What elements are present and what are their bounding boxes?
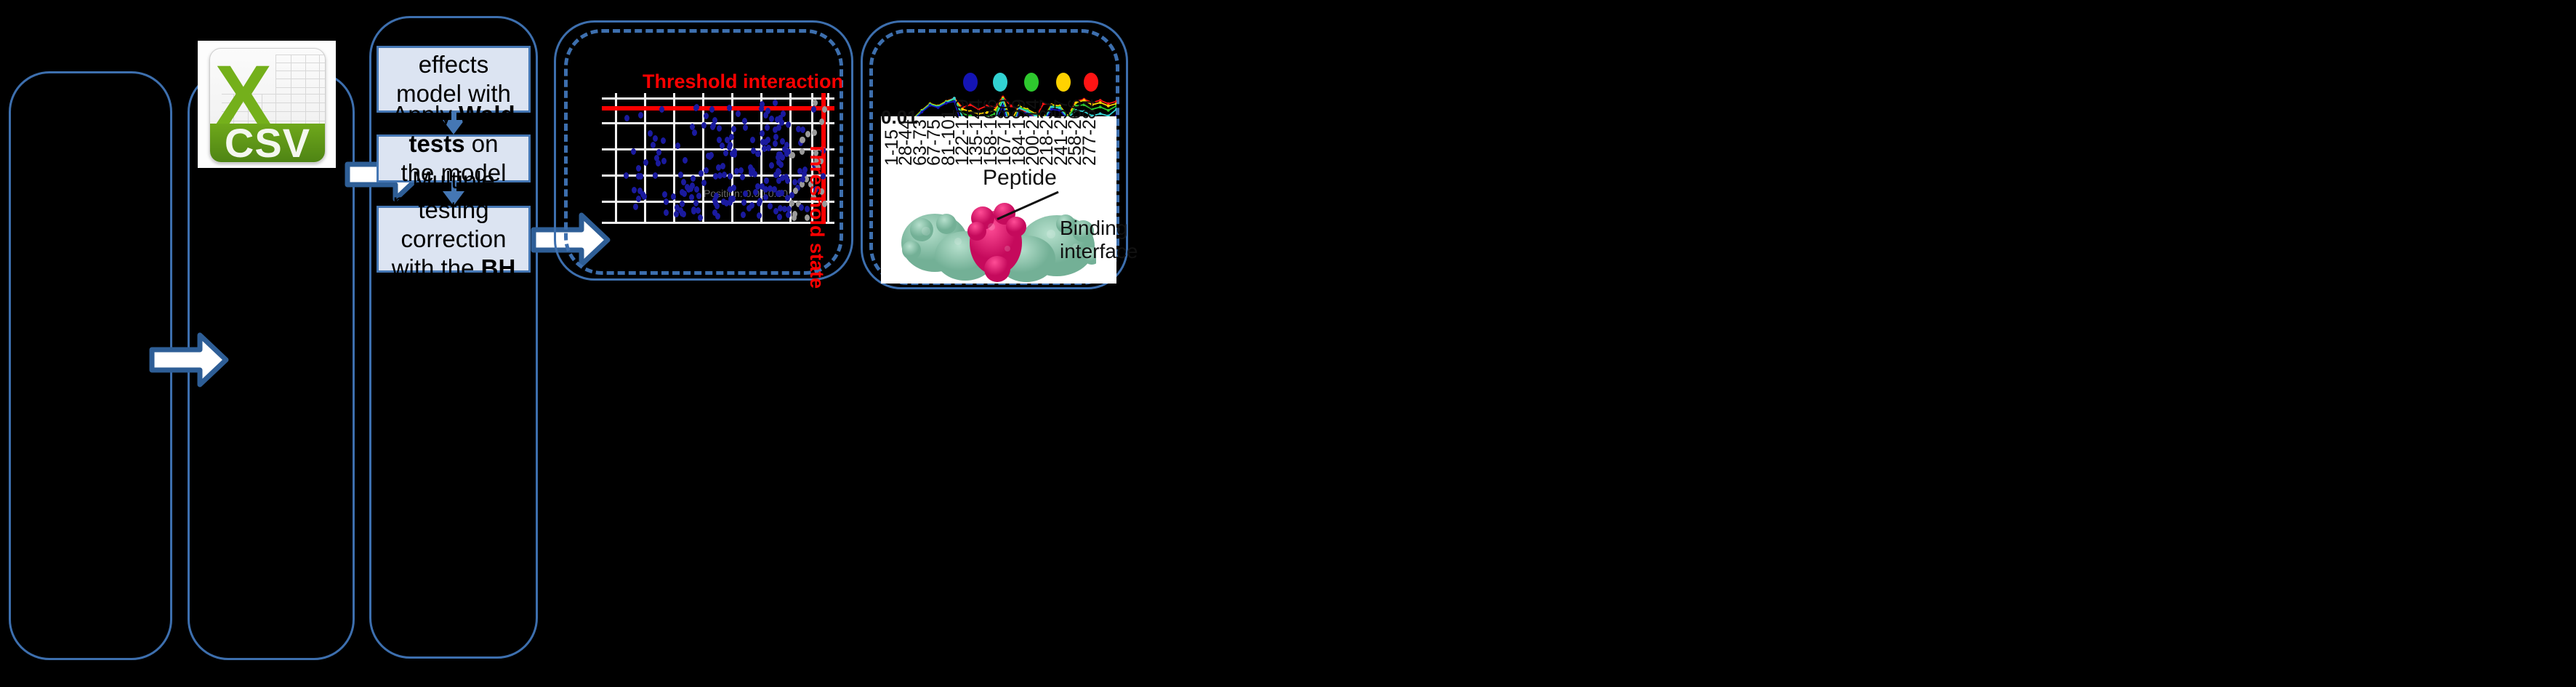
scatter-point [654, 155, 659, 161]
scatter-point [749, 170, 754, 177]
scatter-point [701, 122, 707, 129]
scatter-point [800, 176, 805, 182]
step-bh-line3-pre: with the [392, 254, 481, 281]
scatter-point [813, 100, 818, 106]
scatter-point [678, 172, 683, 178]
scatter-point [631, 148, 636, 155]
scatter-point [717, 125, 722, 132]
scatter-point [692, 129, 697, 136]
scatter-point [696, 193, 701, 199]
scatter-point [805, 131, 810, 137]
scatter-point [723, 150, 728, 156]
scatter-point [709, 152, 714, 158]
scatter-point [799, 204, 804, 211]
scatter-point [759, 105, 764, 112]
scatter-point [691, 175, 696, 182]
scatter-point [778, 205, 783, 212]
scatter-point [698, 214, 703, 221]
scatter-point [721, 198, 726, 205]
scatter-point [636, 196, 641, 202]
csv-format-band: CSV [210, 124, 325, 162]
label-threshold-interaction: Threshold interaction [643, 71, 843, 93]
scatter-point [786, 148, 791, 155]
structure-figure: 0.01 1-1528-4463-7367-7581-101122-129135… [877, 38, 1116, 284]
scatter-point [633, 204, 638, 210]
scatter-point [736, 111, 741, 117]
scatter-point [776, 159, 781, 166]
scatter-point [741, 199, 746, 206]
scatter-point [812, 129, 817, 136]
scatter-point [704, 167, 709, 174]
scatter-point [773, 134, 778, 140]
scatter-point [772, 186, 777, 193]
scatter-point [763, 194, 768, 201]
scatter-point [636, 165, 641, 172]
scatter-point [688, 185, 693, 192]
scatter-point [704, 113, 709, 119]
scatter-point [800, 148, 805, 155]
binding-interface-label: Binding interface [1060, 217, 1138, 263]
scatter-point [712, 117, 717, 124]
scatter-point [793, 188, 798, 194]
scatter-point [789, 200, 794, 206]
step-wald-line1-pre: Apply [392, 101, 459, 128]
scatter-point [727, 105, 732, 111]
scatter-point [624, 172, 629, 179]
scatter-point [717, 172, 723, 179]
scatter-point [730, 150, 735, 157]
chart-point [929, 104, 932, 107]
scatter-point [661, 137, 666, 144]
scatter-point [782, 206, 787, 212]
scatter-point [734, 168, 739, 174]
scatter-point [680, 189, 685, 196]
scatter-point [731, 126, 736, 132]
scatter-point [715, 203, 720, 209]
chart-point [1107, 109, 1110, 112]
binding-label-line1: Binding [1060, 217, 1127, 239]
scatter-point [653, 135, 658, 142]
step-bh-bold: BH [481, 254, 516, 281]
scatter-point [632, 187, 637, 193]
structure-white-card: 0.01 1-1528-4463-7367-7581-101122-129135… [881, 116, 1116, 284]
scatter-plot: Position: 0.00 0.00 [602, 93, 834, 224]
scatter-point [769, 162, 774, 169]
scatter-point [680, 201, 685, 207]
scatter-point [765, 108, 770, 114]
chart-point [1107, 105, 1110, 108]
scatter-point [780, 174, 785, 181]
threshold-line-horizontal [602, 106, 834, 111]
scatter-point [769, 116, 774, 122]
scatter-point [777, 214, 782, 220]
scatter-point [755, 183, 760, 190]
x-axis-title: Peptide [983, 166, 1057, 190]
scatter-point [701, 180, 707, 186]
scatter-point [743, 124, 748, 131]
scatter-point [800, 126, 805, 133]
scatter-point [694, 104, 699, 111]
step-box-bh[interactable]: Multiple testing correction with the BH … [377, 206, 531, 273]
scatter-point [651, 142, 656, 148]
scatter-point [659, 106, 664, 113]
scatter-point [749, 202, 754, 209]
scatter-point [691, 208, 696, 214]
flow-diagram-stage: X CSV Fit a linear mixed- effects model … [0, 0, 2576, 687]
scatter-point [786, 212, 791, 218]
arrow-input-to-csv [149, 331, 229, 389]
label-threshold-state: Threshold state [805, 142, 828, 289]
scatter-point [727, 144, 732, 150]
scatter-point [792, 179, 797, 185]
scatter-point [768, 203, 773, 209]
step-reml-line1: Fit a linear mixed- [398, 0, 510, 49]
scatter-point [694, 186, 699, 193]
step-reml-line2: effects model with [396, 51, 511, 107]
step-bh-line3-post: procedure [400, 284, 508, 310]
csv-x-letter: X [214, 53, 260, 103]
scatter-point [728, 186, 733, 193]
scatter-point [638, 112, 643, 118]
step-wald-line1-post: on [465, 130, 499, 157]
scatter-point [636, 173, 641, 180]
scatter-point [773, 100, 778, 106]
scatter-point [671, 193, 676, 200]
scatter-point [800, 137, 805, 143]
scatter-point [720, 142, 725, 149]
scatter-point [743, 190, 748, 197]
scatter-point [661, 158, 667, 164]
scatter-point [811, 106, 816, 113]
scatter-point [785, 177, 790, 184]
peptide-axis-labels: 1-1528-4463-7367-7581-101122-129135-1441… [898, 121, 1114, 166]
scatter-point [696, 207, 701, 214]
csv-format-label: CSV [225, 119, 310, 163]
scatter-point [664, 198, 669, 205]
step-bh-line2: correction [401, 225, 507, 252]
scatter-point [624, 115, 629, 121]
scatter-point [710, 124, 715, 130]
scatter-point [709, 106, 715, 113]
scatter-point [740, 174, 745, 180]
scatter-point [742, 118, 747, 124]
scatter-point [675, 142, 680, 149]
scatter-point [689, 194, 694, 201]
scatter-point [741, 212, 746, 218]
scatter-point [779, 119, 784, 126]
panel-input [9, 71, 172, 660]
csv-file-icon: X CSV [209, 48, 326, 163]
scatter-point [715, 213, 720, 220]
scatter-point [755, 150, 760, 157]
scatter-point [796, 126, 801, 132]
scatter-point [662, 191, 667, 198]
chart-point [945, 102, 948, 105]
scatter-point [643, 159, 648, 166]
scatter-point [648, 130, 653, 137]
chart-point [920, 111, 923, 113]
scatter-point [784, 142, 789, 148]
scatter-point [675, 204, 680, 211]
scatter-point [674, 211, 679, 217]
scatter-point [764, 177, 769, 184]
binding-label-line2: interface [1060, 240, 1138, 262]
scatter-point [664, 209, 669, 216]
scatter-point [773, 172, 778, 178]
scatter-point [750, 137, 755, 143]
scatter-point [762, 145, 767, 152]
scatter-point [773, 140, 778, 147]
peptide-tick-label: 277-284 [1079, 99, 1100, 166]
scatter-point [720, 163, 725, 169]
scatter-point [653, 172, 658, 179]
scatter-point [729, 134, 734, 140]
scatter-point [683, 157, 688, 164]
scatter-point [693, 200, 699, 206]
step-bh-line1: Multiple testing [412, 166, 495, 222]
scatter-point [773, 126, 778, 133]
scatter-point [757, 200, 762, 206]
scatter-point [760, 130, 765, 137]
scatter-point [765, 124, 770, 131]
